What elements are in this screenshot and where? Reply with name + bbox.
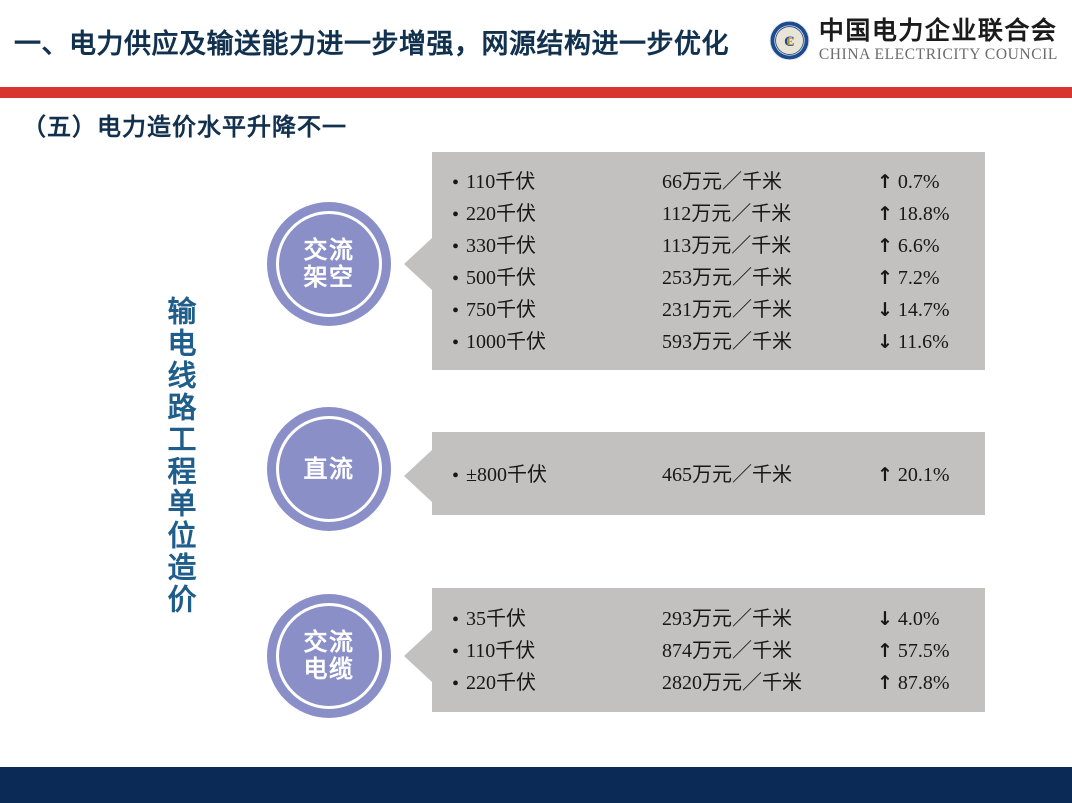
logo-name-en: CHINA ELECTRICITY COUNCIL bbox=[819, 47, 1058, 63]
row-unit-cost: 231万元／千米 bbox=[662, 293, 877, 322]
trend-up-icon: ↑ bbox=[877, 674, 893, 693]
svg-text:E: E bbox=[787, 37, 794, 48]
logo-name-cn: 中国电力企业联合会 bbox=[819, 18, 1058, 43]
row-voltage: •110千伏 bbox=[452, 165, 662, 194]
row-change: ↑ 7.2% bbox=[877, 267, 940, 290]
trend-up-icon: ↑ bbox=[877, 269, 893, 288]
row-voltage: •500千伏 bbox=[452, 261, 662, 290]
bullet-icon: • bbox=[452, 237, 459, 257]
table-row: •750千伏 231万元／千米 ↓ 14.7% bbox=[452, 293, 975, 325]
table-row: •110千伏 66万元／千米 ↑ 0.7% bbox=[452, 165, 975, 197]
table-row: •220千伏 112万元／千米 ↑ 18.8% bbox=[452, 197, 975, 229]
trend-up-icon: ↑ bbox=[877, 205, 893, 224]
bullet-icon: • bbox=[452, 269, 459, 289]
panel-pointer bbox=[404, 238, 432, 290]
table-row: •220千伏 2820万元／千米 ↑ 87.8% bbox=[452, 666, 975, 698]
row-change-value: 20.1% bbox=[898, 464, 950, 487]
table-row: •500千伏 253万元／千米 ↑ 7.2% bbox=[452, 261, 975, 293]
panel-pointer bbox=[404, 450, 432, 502]
group-rows: •110千伏 66万元／千米 ↑ 0.7% •220千伏 112万元／千米 ↑ … bbox=[452, 152, 975, 370]
trend-up-icon: ↑ bbox=[877, 237, 893, 256]
row-unit-cost: 874万元／千米 bbox=[662, 634, 877, 663]
group-badge-label: 交流 架空 bbox=[304, 237, 355, 291]
row-unit-cost: 112万元／千米 bbox=[662, 197, 877, 226]
group-badge: 交流 架空 bbox=[267, 202, 391, 326]
council-emblem-icon: C E bbox=[769, 20, 810, 61]
row-change: ↑ 0.7% bbox=[877, 171, 940, 194]
row-change-value: 6.6% bbox=[898, 235, 940, 258]
row-unit-cost: 2820万元／千米 bbox=[662, 666, 877, 695]
trend-down-icon: ↓ bbox=[877, 301, 893, 320]
row-voltage: •110千伏 bbox=[452, 634, 662, 663]
bullet-icon: • bbox=[452, 674, 459, 694]
table-row: •330千伏 113万元／千米 ↑ 6.6% bbox=[452, 229, 975, 261]
vertical-category-label: 输电线路工程单位造价 bbox=[150, 296, 194, 616]
logo-text: 中国电力企业联合会 CHINA ELECTRICITY COUNCIL bbox=[819, 18, 1058, 63]
row-change-value: 87.8% bbox=[898, 672, 950, 695]
row-change-value: 0.7% bbox=[898, 171, 940, 194]
row-voltage: •35千伏 bbox=[452, 602, 662, 631]
row-voltage: •±800千伏 bbox=[452, 458, 662, 487]
row-change-value: 11.6% bbox=[898, 331, 949, 354]
row-change-value: 14.7% bbox=[898, 299, 950, 322]
row-change-value: 7.2% bbox=[898, 267, 940, 290]
row-change: ↑ 6.6% bbox=[877, 235, 940, 258]
row-voltage: •750千伏 bbox=[452, 293, 662, 322]
row-voltage: •1000千伏 bbox=[452, 325, 662, 354]
table-row: •110千伏 874万元／千米 ↑ 57.5% bbox=[452, 634, 975, 666]
bullet-icon: • bbox=[452, 333, 459, 353]
group-badge-label: 交流 电缆 bbox=[304, 629, 355, 683]
row-change: ↓ 11.6% bbox=[877, 331, 949, 354]
row-change-value: 4.0% bbox=[898, 608, 940, 631]
row-unit-cost: 66万元／千米 bbox=[662, 165, 877, 194]
row-unit-cost: 113万元／千米 bbox=[662, 229, 877, 258]
group-badge: 交流 电缆 bbox=[267, 594, 391, 718]
row-unit-cost: 293万元／千米 bbox=[662, 602, 877, 631]
group-rows: •±800千伏 465万元／千米 ↑ 20.1% bbox=[452, 432, 975, 515]
group-panel: •35千伏 293万元／千米 ↓ 4.0% •110千伏 874万元／千米 ↑ … bbox=[432, 588, 985, 712]
group-panel: •110千伏 66万元／千米 ↑ 0.7% •220千伏 112万元／千米 ↑ … bbox=[432, 152, 985, 370]
bullet-icon: • bbox=[452, 610, 459, 630]
slide-header: 一、电力供应及输送能力进一步增强，网源结构进一步优化 C E 中国电力企业联合会… bbox=[0, 0, 1072, 87]
section-title: （五）电力造价水平升降不一 bbox=[22, 107, 347, 142]
group-badge: 直流 bbox=[267, 407, 391, 531]
panel-pointer bbox=[404, 630, 432, 682]
table-row: •1000千伏 593万元／千米 ↓ 11.6% bbox=[452, 325, 975, 357]
row-change-value: 18.8% bbox=[898, 203, 950, 226]
table-row: •35千伏 293万元／千米 ↓ 4.0% bbox=[452, 602, 975, 634]
bullet-icon: • bbox=[452, 205, 459, 225]
header-divider-rule bbox=[0, 87, 1072, 98]
trend-up-icon: ↑ bbox=[877, 173, 893, 192]
row-voltage: •220千伏 bbox=[452, 666, 662, 695]
group-badge-label: 直流 bbox=[304, 456, 355, 483]
row-voltage: •220千伏 bbox=[452, 197, 662, 226]
group-panel: •±800千伏 465万元／千米 ↑ 20.1% bbox=[432, 432, 985, 515]
trend-up-icon: ↑ bbox=[877, 642, 893, 661]
trend-down-icon: ↓ bbox=[877, 610, 893, 629]
row-change: ↑ 20.1% bbox=[877, 464, 950, 487]
page-title: 一、电力供应及输送能力进一步增强，网源结构进一步优化 bbox=[14, 22, 729, 61]
row-unit-cost: 465万元／千米 bbox=[662, 458, 877, 487]
row-change: ↑ 18.8% bbox=[877, 203, 950, 226]
trend-up-icon: ↑ bbox=[877, 466, 893, 485]
row-change: ↓ 4.0% bbox=[877, 608, 940, 631]
slide-footer-bar bbox=[0, 767, 1072, 803]
bullet-icon: • bbox=[452, 466, 459, 486]
table-row: •±800千伏 465万元／千米 ↑ 20.1% bbox=[452, 458, 975, 490]
row-change: ↑ 57.5% bbox=[877, 640, 950, 663]
bullet-icon: • bbox=[452, 173, 459, 193]
bullet-icon: • bbox=[452, 301, 459, 321]
organization-logo: C E 中国电力企业联合会 CHINA ELECTRICITY COUNCIL bbox=[769, 18, 1058, 63]
row-change: ↓ 14.7% bbox=[877, 299, 950, 322]
row-unit-cost: 593万元／千米 bbox=[662, 325, 877, 354]
trend-down-icon: ↓ bbox=[877, 333, 893, 352]
row-unit-cost: 253万元／千米 bbox=[662, 261, 877, 290]
row-voltage: •330千伏 bbox=[452, 229, 662, 258]
row-change: ↑ 87.8% bbox=[877, 672, 950, 695]
row-change-value: 57.5% bbox=[898, 640, 950, 663]
bullet-icon: • bbox=[452, 642, 459, 662]
group-rows: •35千伏 293万元／千米 ↓ 4.0% •110千伏 874万元／千米 ↑ … bbox=[452, 588, 975, 712]
